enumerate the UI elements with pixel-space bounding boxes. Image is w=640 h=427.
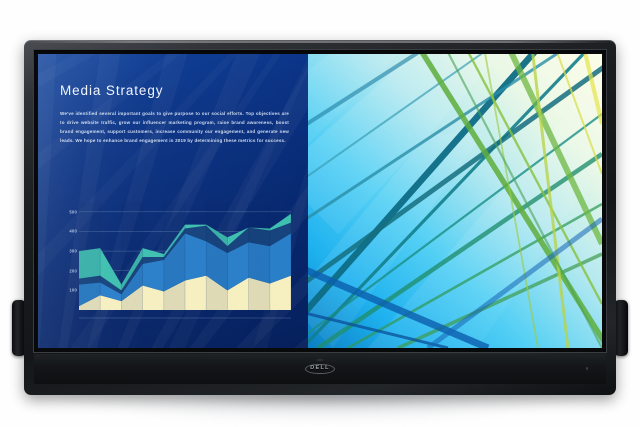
chart-y-tick: 500 [69, 209, 77, 214]
chart-column-band [249, 202, 270, 318]
chart-y-tick: 200 [69, 268, 77, 273]
chart-column-band [121, 202, 142, 318]
chart-y-tick: 100 [69, 288, 77, 293]
dell-logo: DELL [305, 364, 335, 375]
chart-svg [79, 202, 291, 324]
right-side-handle [614, 300, 628, 356]
chart-plot-area [79, 202, 291, 324]
chart-y-tick: 300 [69, 249, 77, 254]
slide-text-block: Media Strategy We've identified several … [38, 54, 308, 146]
chart-y-tick: 400 [69, 229, 77, 234]
abstract-artwork [308, 54, 602, 348]
chart-column-band [79, 202, 100, 318]
chart-column-band [206, 202, 227, 318]
display-bezel: Media Strategy We've identified several … [34, 50, 606, 352]
display-bottom-bezel: DELL [34, 354, 606, 384]
product-photo-stage: Media Strategy We've identified several … [0, 0, 640, 427]
power-led-icon [586, 367, 589, 370]
floor-shadow [60, 392, 580, 422]
ir-sensor-icon [317, 359, 324, 361]
slide-title: Media Strategy [60, 84, 289, 98]
slide-paragraph: We've identified several important goals… [60, 109, 289, 146]
slide-right-pane [308, 54, 602, 348]
stacked-area-chart: 500400300200100 [60, 202, 291, 327]
chart-y-axis-labels: 500400300200100 [60, 202, 77, 310]
dell-display-chassis: Media Strategy We've identified several … [24, 40, 616, 395]
chart-column-band [164, 202, 185, 318]
display-screen[interactable]: Media Strategy We've identified several … [38, 54, 602, 348]
slide-left-pane: Media Strategy We've identified several … [38, 54, 308, 348]
